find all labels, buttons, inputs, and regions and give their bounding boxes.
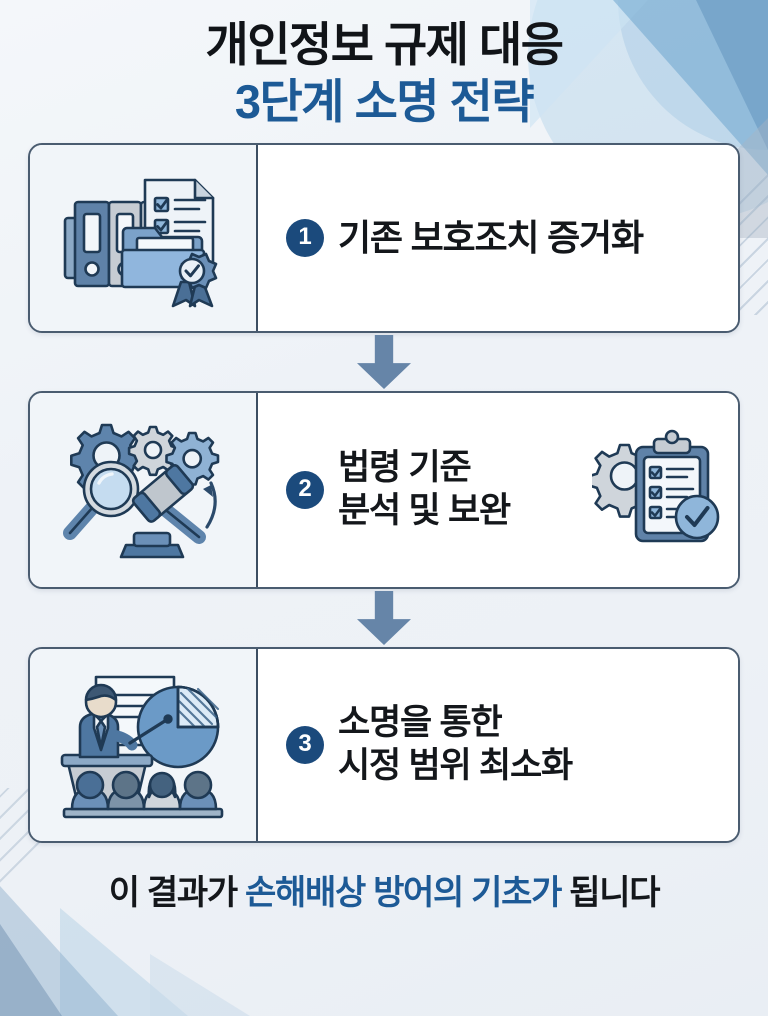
clipboard-gear-check-icon xyxy=(592,429,722,551)
step-2-side-art xyxy=(592,429,728,551)
step-2-label: 법령 기준 분석 및 보완 xyxy=(338,447,510,532)
footer-suffix: 됩니다 xyxy=(561,874,659,912)
decorative-triangle3-bottom-left xyxy=(60,908,188,1016)
step-3-number-badge: 3 xyxy=(286,726,324,764)
step-card-3[interactable]: 3 소명을 통한 시정 범위 최소화 xyxy=(28,647,740,843)
footer-prefix: 이 결과가 xyxy=(109,874,245,912)
step-2-number-badge: 2 xyxy=(286,471,324,509)
infographic-poster: 개인정보 규제 대응 3단계 소명 전략 xyxy=(0,0,768,1016)
presenter-piechart-audience-icon xyxy=(50,669,236,821)
down-arrow-icon xyxy=(357,335,411,389)
footer-message: 이 결과가 손해배상 방어의 기초가 됩니다 xyxy=(0,865,768,914)
connector-arrow-1 xyxy=(28,333,740,391)
binders-document-checklist-folder-seal-icon xyxy=(53,166,233,311)
step-2-icon-panel xyxy=(30,393,258,587)
footer-highlight: 손해배상 방어의 기초가 xyxy=(245,874,561,912)
gears-magnifier-gavel-icon xyxy=(54,415,232,565)
step-3-label: 소명을 통한 시정 범위 최소화 xyxy=(338,702,572,787)
step-1-label: 기존 보호조치 증거화 xyxy=(338,216,643,260)
step-1-icon-panel xyxy=(30,145,258,331)
steps-container: 1 기존 보호조치 증거화 xyxy=(0,143,768,843)
step-1-number-badge: 1 xyxy=(286,219,324,257)
step-3-icon-panel xyxy=(30,649,258,841)
decorative-triangle2-bottom-left xyxy=(0,924,62,1016)
step-1-body: 1 기존 보호조치 증거화 xyxy=(258,145,738,331)
step-card-1[interactable]: 1 기존 보호조치 증거화 xyxy=(28,143,740,333)
step-3-body: 3 소명을 통한 시정 범위 최소화 xyxy=(258,649,738,841)
down-arrow-icon xyxy=(357,591,411,645)
decorative-triangle4-bottom-left xyxy=(150,954,250,1016)
step-card-2[interactable]: 2 법령 기준 분석 및 보완 xyxy=(28,391,740,589)
title-line-1: 개인정보 규제 대응 xyxy=(0,18,768,73)
step-2-body: 2 법령 기준 분석 및 보완 xyxy=(258,393,738,587)
title-line-2: 3단계 소명 전략 xyxy=(0,75,768,130)
connector-arrow-2 xyxy=(28,589,740,647)
poster-header: 개인정보 규제 대응 3단계 소명 전략 xyxy=(0,0,768,129)
